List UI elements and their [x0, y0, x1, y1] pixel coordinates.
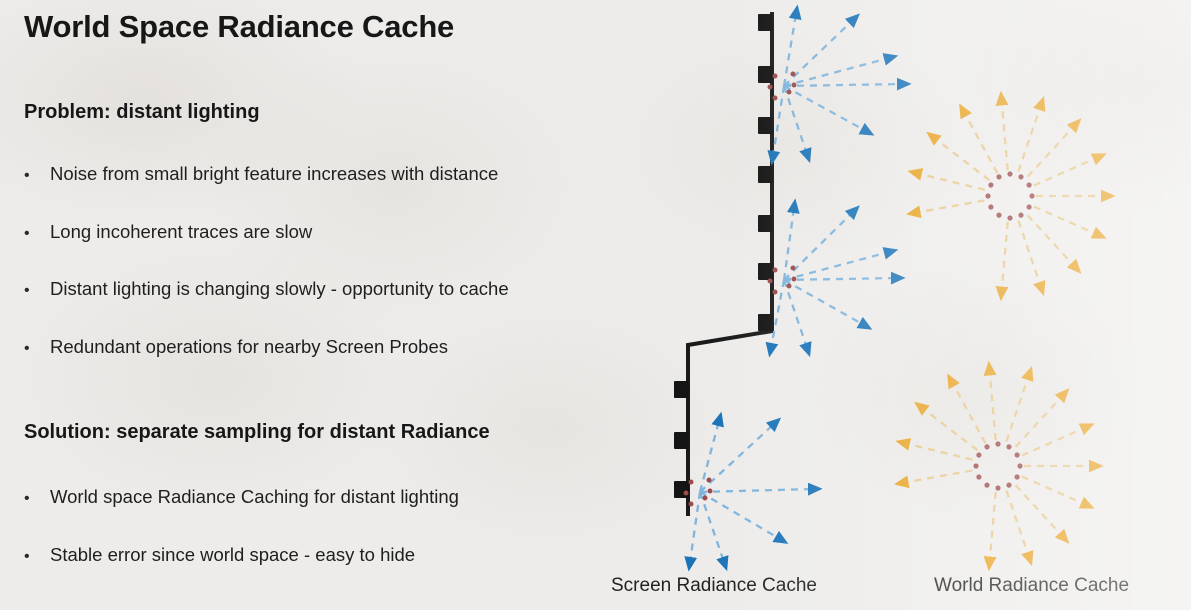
- origin-dot: [689, 480, 694, 485]
- screen-probe-upper: [768, 14, 903, 156]
- world-probe-upper: [916, 100, 1107, 291]
- probe-marker: [758, 215, 773, 232]
- probe-marker: [758, 66, 773, 83]
- section-heading-solution: Solution: separate sampling for distant …: [24, 421, 490, 444]
- origin-dot: [787, 90, 792, 95]
- origin-dot: [996, 213, 1001, 218]
- origin-dot: [773, 96, 778, 101]
- origin-dot: [976, 452, 981, 457]
- ray: [990, 370, 996, 440]
- bullet-icon: •: [24, 549, 50, 565]
- probe-marker: [758, 14, 773, 31]
- list-item: • Stable error since world space - easy …: [24, 544, 415, 566]
- origin-dot: [1015, 474, 1020, 479]
- ray: [1034, 207, 1098, 235]
- origin-dot: [995, 485, 1000, 490]
- ray: [990, 492, 996, 562]
- caption-screen-radiance-cache: Screen Radiance Cache: [611, 575, 817, 597]
- list-item-label: Noise from small bright feature increase…: [50, 163, 498, 185]
- origin-dot: [703, 496, 708, 501]
- ray: [1016, 395, 1063, 447]
- list-item: • Redundant operations for nearby Screen…: [24, 336, 448, 358]
- ray: [1022, 427, 1086, 455]
- ray: [1006, 375, 1029, 441]
- ray: [784, 278, 896, 280]
- probe-origin-dots: [985, 171, 1034, 220]
- slide-root: World Space Radiance Cache Problem: dist…: [0, 0, 1191, 610]
- page-title: World Space Radiance Cache: [24, 9, 454, 45]
- ray: [905, 443, 973, 460]
- ray: [700, 489, 813, 492]
- origin-dot: [1007, 215, 1012, 220]
- caption-world-radiance-cache: World Radiance Cache: [934, 575, 1129, 597]
- bullet-icon: •: [24, 226, 50, 242]
- list-item: • Noise from small bright feature increa…: [24, 163, 498, 185]
- origin-dot: [684, 491, 689, 496]
- ray: [1022, 477, 1086, 505]
- probe-marker: [758, 314, 773, 331]
- bullet-icon: •: [24, 168, 50, 184]
- origin-dot: [768, 85, 773, 90]
- radiance-cache-diagram: [600, 0, 1191, 610]
- ray: [934, 138, 990, 181]
- origin-dot: [1006, 483, 1011, 488]
- origin-dot: [996, 174, 1001, 179]
- origin-dot: [773, 290, 778, 295]
- world-probe-lower: [904, 370, 1095, 561]
- origin-dot: [1017, 463, 1022, 468]
- ray: [784, 280, 807, 348]
- origin-dot: [995, 441, 1000, 446]
- origin-dot: [791, 266, 796, 271]
- ray: [1016, 485, 1063, 537]
- origin-dot: [708, 489, 713, 494]
- origin-dot: [1018, 174, 1023, 179]
- origin-dot: [787, 284, 792, 289]
- ray: [1028, 215, 1075, 267]
- bullet-icon: •: [24, 341, 50, 357]
- text-column: World Space Radiance Cache Problem: dist…: [22, 0, 682, 610]
- ray: [784, 84, 902, 86]
- section-heading-problem: Problem: distant lighting: [24, 101, 260, 124]
- ray: [904, 471, 973, 483]
- origin-dot: [768, 279, 773, 284]
- ray: [1002, 100, 1008, 170]
- origin-dot: [985, 193, 990, 198]
- probe-marker: [758, 117, 773, 134]
- origin-dot: [1007, 171, 1012, 176]
- origin-dot: [1018, 213, 1023, 218]
- diagram-canvas: [600, 0, 1191, 610]
- ray: [916, 201, 985, 213]
- origin-dot: [1006, 444, 1011, 449]
- ray: [1002, 222, 1008, 292]
- probe-marker: [674, 481, 689, 498]
- origin-dot: [1029, 193, 1034, 198]
- origin-dot: [976, 474, 981, 479]
- screen-probe-lower: [684, 421, 814, 562]
- list-item-label: Long incoherent traces are slow: [50, 221, 312, 243]
- probe-marker: [758, 166, 773, 183]
- ray: [1018, 221, 1041, 287]
- ray: [1018, 105, 1041, 171]
- probe-marker: [674, 381, 689, 398]
- origin-dot: [988, 182, 993, 187]
- ray: [1028, 125, 1075, 177]
- origin-dot: [984, 444, 989, 449]
- ray: [700, 424, 774, 492]
- ray: [700, 492, 780, 539]
- ray: [700, 492, 724, 562]
- list-item-label: World space Radiance Caching for distant…: [50, 486, 459, 508]
- list-item-label: Redundant operations for nearby Screen P…: [50, 336, 448, 358]
- origin-dot: [1027, 204, 1032, 209]
- ray: [784, 58, 889, 86]
- list-item: • Long incoherent traces are slow: [24, 221, 312, 243]
- ray: [1034, 157, 1098, 185]
- probe-marker: [758, 263, 773, 280]
- origin-dot: [792, 277, 797, 282]
- origin-dot: [1027, 182, 1032, 187]
- list-item: • World space Radiance Caching for dista…: [24, 486, 459, 508]
- ray: [917, 173, 985, 190]
- origin-dot: [973, 463, 978, 468]
- list-item: • Distant lighting is changing slowly - …: [24, 278, 509, 300]
- ray: [784, 86, 807, 154]
- ray: [922, 408, 978, 451]
- origin-dot: [1015, 452, 1020, 457]
- origin-dot: [689, 502, 694, 507]
- screen-probe-middle: [768, 208, 897, 348]
- origin-dot: [791, 72, 796, 77]
- origin-dot: [988, 204, 993, 209]
- probe-marker: [674, 432, 689, 449]
- origin-dot: [773, 268, 778, 273]
- origin-dot: [984, 483, 989, 488]
- list-item-label: Stable error since world space - easy to…: [50, 544, 415, 566]
- bullet-icon: •: [24, 491, 50, 507]
- origin-dot: [707, 478, 712, 483]
- ray: [1006, 491, 1029, 557]
- ray: [784, 252, 889, 280]
- list-item-label: Distant lighting is changing slowly - op…: [50, 278, 509, 300]
- bullet-icon: •: [24, 283, 50, 299]
- origin-dot: [792, 83, 797, 88]
- probe-origin-dots: [973, 441, 1022, 490]
- origin-dot: [773, 74, 778, 79]
